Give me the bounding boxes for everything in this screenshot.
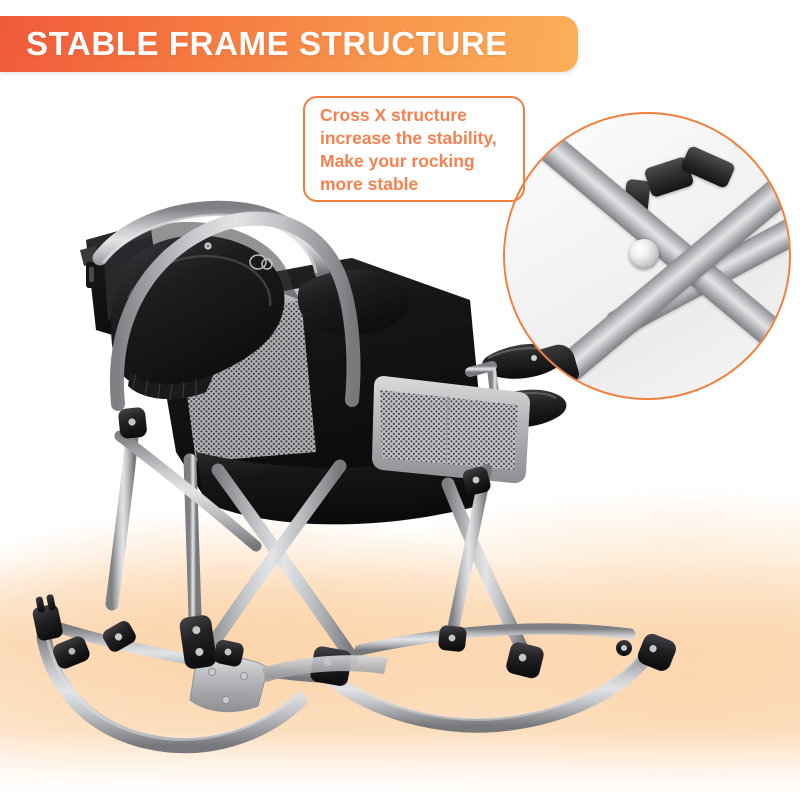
frame-tube-upper-vertical [693,112,758,149]
callout-text: Cross X structure increase the stability… [311,98,550,196]
product-feature-image: Cross X structure increase the stability… [0,0,800,800]
cross-joint-rivet [629,239,659,269]
